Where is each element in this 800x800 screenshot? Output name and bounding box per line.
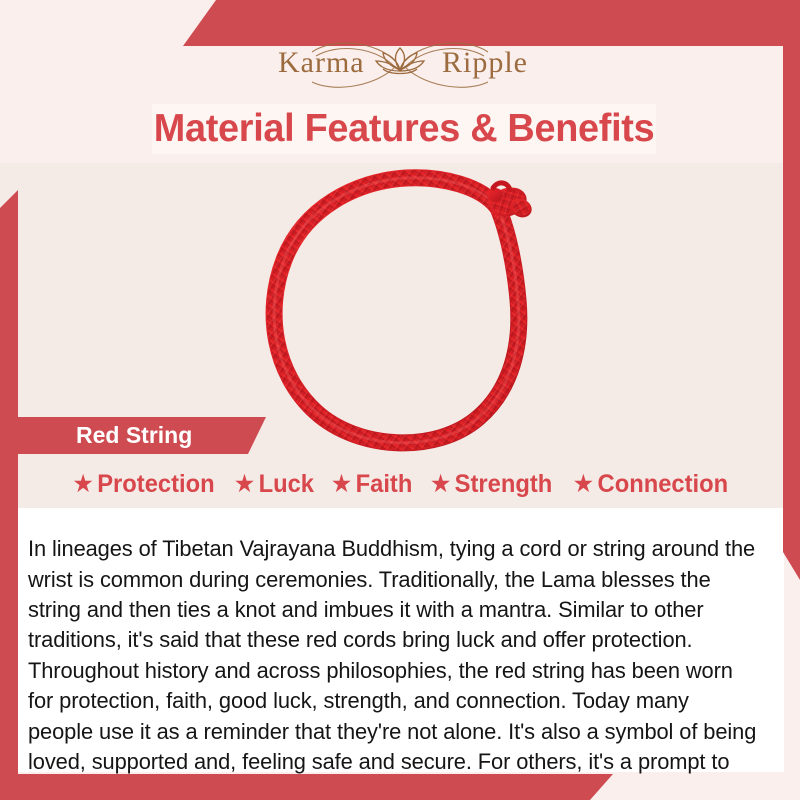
benefit-label: Faith: [355, 470, 412, 499]
benefit-label: Protection: [97, 470, 214, 499]
infographic-poster: Karma Ripple Material Features & Benefit…: [0, 0, 800, 800]
karma-ripple-logo: Karma Ripple: [250, 36, 550, 94]
star-icon: ★: [332, 473, 351, 495]
star-icon: ★: [431, 473, 450, 495]
page-title: Material Features & Benefits: [154, 107, 655, 151]
brand-name-left: Karma: [278, 46, 365, 79]
red-string-bracelet-image: [246, 168, 576, 458]
star-icon: ★: [235, 473, 254, 495]
material-banner: Red String: [18, 417, 266, 454]
benefit-label: Connection: [597, 470, 728, 499]
benefit-label: Strength: [455, 470, 553, 499]
title-band: Material Features & Benefits: [152, 104, 656, 154]
benefit-faith: ★ Faith: [325, 470, 419, 499]
description-text: In lineages of Tibetan Vajrayana Buddhis…: [28, 534, 759, 800]
material-banner-label: Red String: [76, 422, 192, 449]
benefit-protection: ★ Protection: [67, 470, 221, 499]
benefit-strength: ★ Strength: [425, 470, 559, 499]
description-card: In lineages of Tibetan Vajrayana Buddhis…: [18, 508, 784, 772]
star-icon: ★: [574, 473, 593, 495]
benefits-row: ★ Protection ★ Luck ★ Faith ★ Strength ★…: [18, 464, 784, 504]
product-photo-zone: [0, 163, 800, 508]
benefit-label: Luck: [258, 470, 313, 499]
brand-logo: Karma Ripple: [0, 36, 800, 94]
brand-name-right: Ripple: [442, 46, 528, 79]
star-icon: ★: [74, 473, 93, 495]
bracelet-illustration: [246, 168, 576, 458]
benefit-luck: ★ Luck: [228, 470, 320, 499]
benefit-connection: ★ Connection: [567, 470, 734, 499]
